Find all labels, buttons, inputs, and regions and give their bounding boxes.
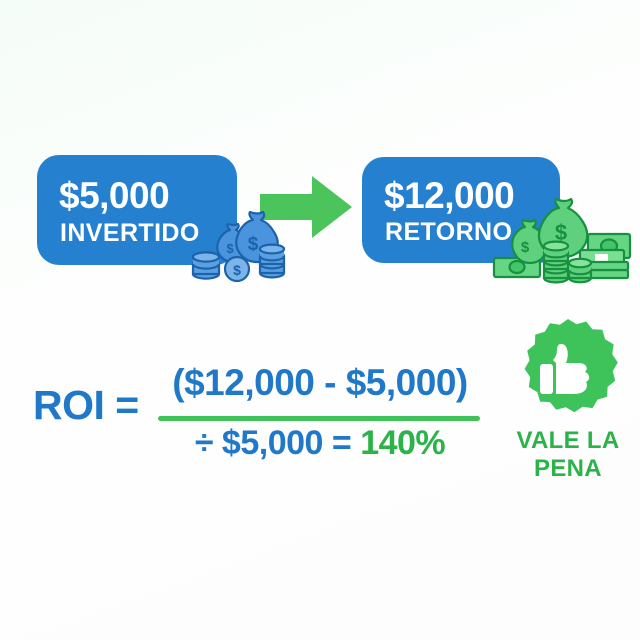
thumbs-up-badge-icon (516, 317, 620, 421)
invested-amount: $5,000 (59, 177, 169, 214)
denominator-expression: ÷ $5,000 = (195, 424, 360, 462)
svg-text:$: $ (233, 262, 241, 278)
money-bags-bills-coins-green-icon: $ $ (492, 196, 640, 288)
invested-label: INVERTIDO (60, 221, 200, 246)
fraction-bar (158, 416, 480, 421)
verdict-line-2: PENA (488, 455, 640, 483)
verdict-text: VALE LA PENA (488, 427, 640, 482)
infographic-canvas: $5,000 INVERTIDO (0, 0, 640, 640)
svg-text:$: $ (555, 220, 567, 245)
svg-text:$: $ (248, 234, 259, 255)
svg-text:$: $ (226, 241, 234, 256)
svg-text:$: $ (521, 239, 530, 256)
verdict-line-1: VALE LA (488, 427, 640, 455)
roi-result-value: 140% (360, 424, 445, 462)
money-bags-coins-blue-icon: $ $ $ (190, 202, 286, 284)
formula-denominator: ÷ $5,000 = 140% (155, 426, 485, 460)
roi-label: ROI = (33, 385, 139, 426)
formula-numerator: ($12,000 - $5,000) (155, 364, 485, 401)
